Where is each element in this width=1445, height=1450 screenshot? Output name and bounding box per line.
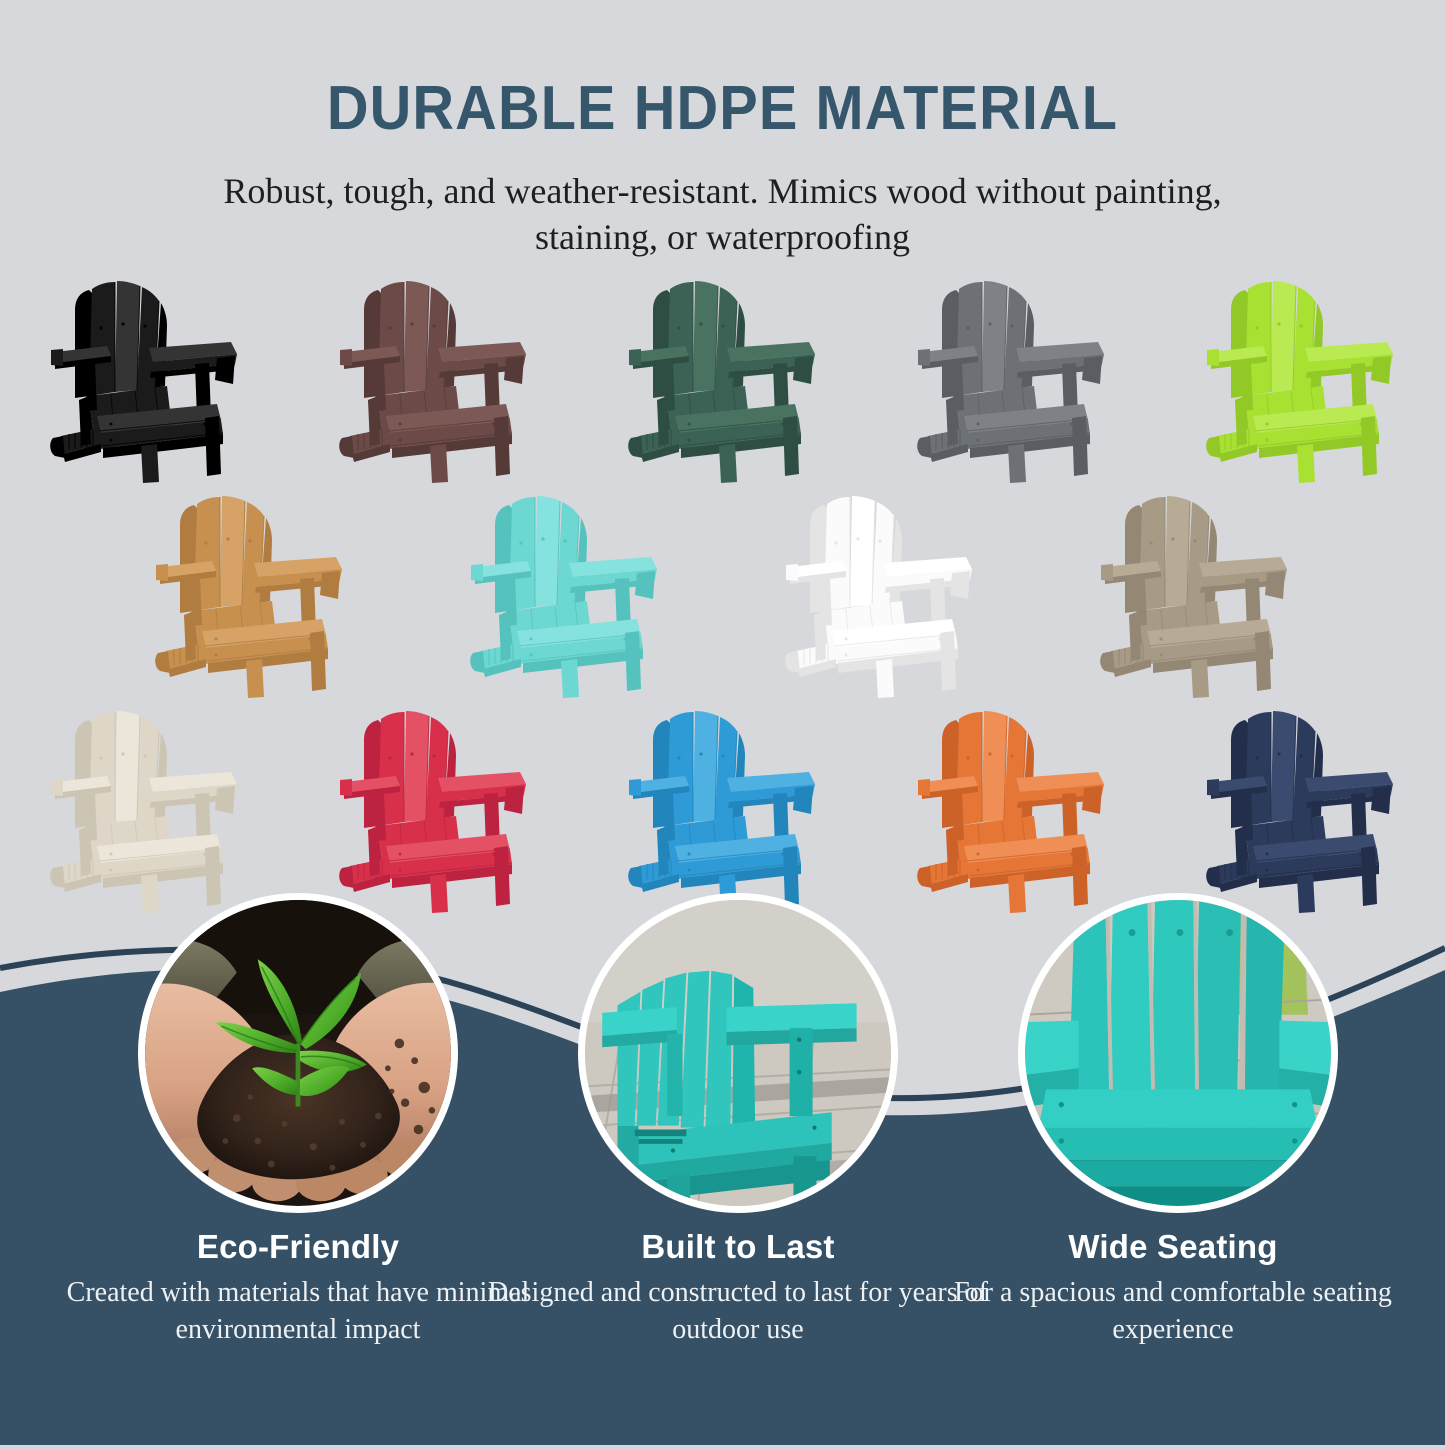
chair-aqua <box>465 483 665 698</box>
color-swatch-brown[interactable] <box>289 268 578 483</box>
feature-block-wide-seating: Wide Seating For a spacious and comforta… <box>934 1228 1412 1348</box>
chair-dark-green <box>623 268 823 483</box>
swatch-row <box>0 483 1445 698</box>
color-swatch-weathered[interactable] <box>1038 483 1353 698</box>
chair-brown <box>334 268 534 483</box>
color-swatch-red[interactable] <box>289 698 578 913</box>
feature-description: For a spacious and comfortable seating e… <box>934 1274 1412 1348</box>
chair-light-blue <box>623 698 823 913</box>
feature-image-built-to-last <box>578 893 898 1213</box>
infographic-canvas: DURABLE HDPE MATERIAL Robust, tough, and… <box>0 0 1445 1445</box>
swatch-row <box>0 698 1445 913</box>
color-swatch-dark-green[interactable] <box>578 268 867 483</box>
color-swatch-aqua[interactable] <box>407 483 722 698</box>
color-swatch-light-blue[interactable] <box>578 698 867 913</box>
chair-orange <box>912 698 1112 913</box>
color-swatch-lime-green[interactable] <box>1156 268 1445 483</box>
chair-red <box>334 698 534 913</box>
color-swatch-grid <box>0 268 1445 928</box>
color-swatch-orange[interactable] <box>867 698 1156 913</box>
color-swatch-white[interactable] <box>723 483 1038 698</box>
feature-description: Designed and constructed to last for yea… <box>484 1274 992 1348</box>
chair-navy <box>1201 698 1401 913</box>
chair-white <box>780 483 980 698</box>
feature-title: Wide Seating <box>934 1228 1412 1266</box>
chair-lime-green <box>1201 268 1401 483</box>
chair-teak <box>150 483 350 698</box>
page-title: DURABLE HDPE MATERIAL <box>51 78 1395 140</box>
feature-title: Eco-Friendly <box>40 1228 556 1266</box>
chair-black <box>45 268 245 483</box>
chair-ivory <box>45 698 245 913</box>
color-swatch-ivory[interactable] <box>0 698 289 913</box>
page-subtitle: Robust, tough, and weather-resistant. Mi… <box>218 168 1228 260</box>
chair-gray <box>912 268 1112 483</box>
swatch-row <box>0 268 1445 483</box>
feature-block-built-to-last: Built to Last Designed and constructed t… <box>484 1228 992 1348</box>
feature-image-eco-friendly <box>138 893 458 1213</box>
feature-image-wide-seating <box>1018 893 1338 1213</box>
feature-title: Built to Last <box>484 1228 992 1266</box>
feature-block-eco-friendly: Eco-Friendly Created with materials that… <box>40 1228 556 1348</box>
color-swatch-navy[interactable] <box>1156 698 1445 913</box>
color-swatch-black[interactable] <box>0 268 289 483</box>
color-swatch-gray[interactable] <box>867 268 1156 483</box>
color-swatch-teak[interactable] <box>92 483 407 698</box>
chair-weathered <box>1095 483 1295 698</box>
feature-description: Created with materials that have minimal… <box>40 1274 556 1348</box>
